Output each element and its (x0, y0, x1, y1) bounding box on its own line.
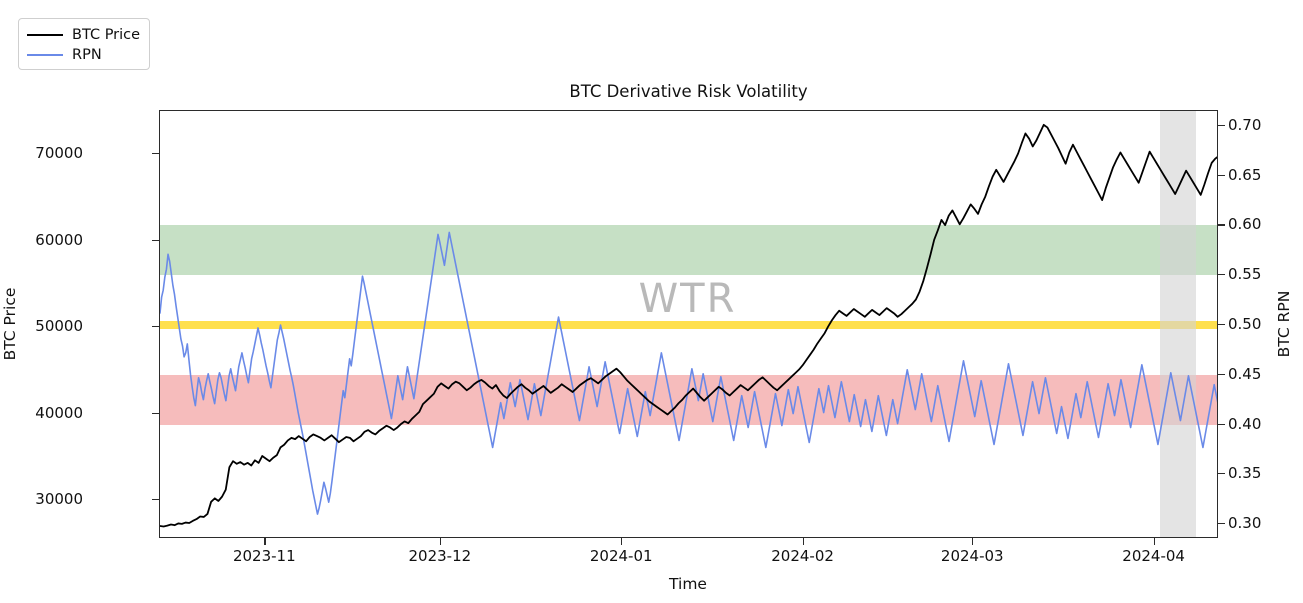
legend-swatch-rpn (27, 54, 63, 56)
y-tick-mark-right-5 (1218, 274, 1225, 275)
y-tick-mark-right-1 (1218, 473, 1225, 474)
y-tick-mark-right-6 (1218, 224, 1225, 225)
y-tick-label-right-0: 0.30 (1228, 514, 1261, 532)
y-tick-mark-left-1 (152, 413, 159, 414)
series-line-btc-price (160, 125, 1217, 527)
y-tick-label-left-3: 60000 (35, 231, 83, 249)
series-line-rpn (160, 232, 1217, 514)
y-tick-label-left-0: 30000 (35, 490, 83, 508)
x-tick-mark-1 (440, 538, 441, 545)
x-tick-label-2: 2024-01 (590, 547, 653, 565)
x-tick-label-1: 2023-12 (408, 547, 471, 565)
legend-label-rpn: RPN (72, 48, 102, 63)
x-tick-label-4: 2024-03 (941, 547, 1004, 565)
y-tick-mark-right-2 (1218, 424, 1225, 425)
y-tick-label-left-1: 40000 (35, 404, 83, 422)
legend-swatch-btc-price (27, 34, 63, 36)
x-tick-label-3: 2024-02 (771, 547, 834, 565)
y-tick-mark-right-4 (1218, 324, 1225, 325)
x-tick-label-5: 2024-04 (1122, 547, 1185, 565)
legend-item-rpn: RPN (27, 45, 141, 65)
plot-area: WTR (159, 110, 1218, 538)
x-tick-mark-0 (264, 538, 265, 545)
x-tick-mark-2 (621, 538, 622, 545)
x-tick-label-0: 2023-11 (233, 547, 296, 565)
y-axis-label-left: BTC Price (1, 288, 19, 361)
x-axis-label: Time (669, 575, 707, 593)
y-tick-mark-right-3 (1218, 374, 1225, 375)
y-tick-mark-right-0 (1218, 523, 1225, 524)
chart-root: BTC Price RPN BTC Derivative Risk Volati… (0, 0, 1303, 603)
y-tick-mark-left-4 (152, 153, 159, 154)
y-tick-label-right-2: 0.40 (1228, 415, 1261, 433)
plot-clip: WTR (160, 111, 1217, 537)
y-tick-label-right-8: 0.70 (1228, 116, 1261, 134)
legend-item-btc-price: BTC Price (27, 25, 141, 45)
y-tick-label-right-5: 0.55 (1228, 265, 1261, 283)
legend-label-btc-price: BTC Price (72, 28, 140, 43)
y-tick-label-right-1: 0.35 (1228, 464, 1261, 482)
series-canvas (160, 111, 1217, 537)
y-tick-mark-right-8 (1218, 125, 1225, 126)
y-tick-mark-right-7 (1218, 175, 1225, 176)
chart-title: BTC Derivative Risk Volatility (159, 82, 1218, 101)
y-tick-mark-left-3 (152, 240, 159, 241)
chart-legend: BTC Price RPN (18, 18, 150, 70)
x-tick-mark-5 (1154, 538, 1155, 545)
y-tick-label-right-4: 0.50 (1228, 315, 1261, 333)
y-tick-label-right-7: 0.65 (1228, 166, 1261, 184)
y-tick-label-right-6: 0.60 (1228, 215, 1261, 233)
x-tick-mark-3 (803, 538, 804, 545)
y-tick-mark-left-2 (152, 326, 159, 327)
y-tick-label-left-4: 70000 (35, 144, 83, 162)
y-tick-mark-left-0 (152, 499, 159, 500)
y-tick-label-left-2: 50000 (35, 317, 83, 335)
y-axis-label-right: BTC RPN (1275, 291, 1293, 358)
y-tick-label-right-3: 0.45 (1228, 365, 1261, 383)
x-tick-mark-4 (972, 538, 973, 545)
